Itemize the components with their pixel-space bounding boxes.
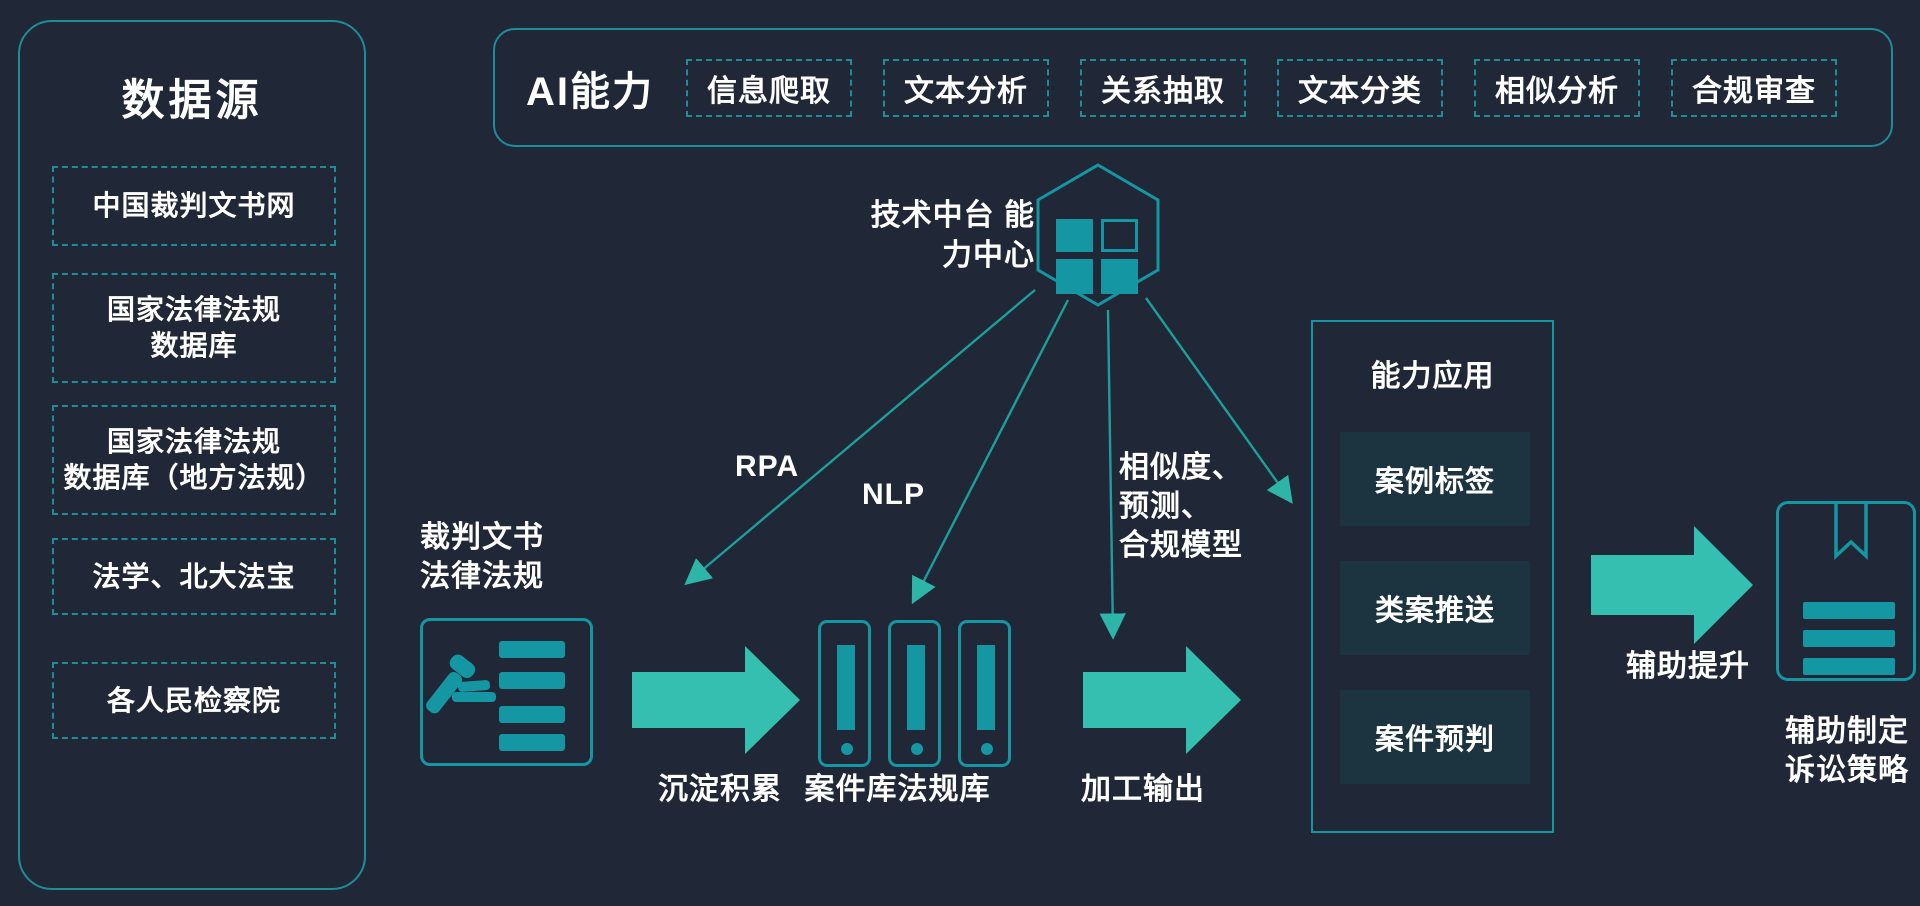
capability-panel-title: 能力应用	[1313, 351, 1552, 395]
server-dot	[841, 743, 853, 755]
server-bar	[977, 645, 995, 730]
hex-cell-top-left	[1056, 219, 1093, 252]
doc-line-4	[499, 734, 565, 751]
edge-label-rpa: RPA	[735, 447, 799, 486]
hex-cell-bottom-right	[1101, 259, 1138, 294]
edge-model	[1108, 310, 1113, 635]
ai-chip-text-classify[interactable]: 文本分类	[1277, 59, 1443, 117]
arrow-process-output	[1083, 646, 1241, 754]
capability-card-case-predict[interactable]: 案件预判	[1340, 690, 1530, 784]
server-dot	[911, 743, 923, 755]
diagram-canvas: 数据源 中国裁判文书网 国家法律法规 数据库 国家法律法规 数据库（地方法规） …	[0, 0, 1920, 906]
datasource-item-4-label: 法学、北大法宝	[92, 559, 295, 595]
gavel-document-icon[interactable]	[420, 618, 593, 766]
outcome-caption: 辅助制定 诉讼策略	[1738, 712, 1920, 790]
ai-chip-compliance-review[interactable]: 合规审查	[1671, 59, 1837, 117]
server-dot	[981, 743, 993, 755]
arrow-assist-upgrade	[1591, 526, 1753, 644]
datasource-item-5[interactable]: 各人民检察院	[52, 662, 336, 739]
datasource-panel: 数据源 中国裁判文书网 国家法律法规 数据库 国家法律法规 数据库（地方法规） …	[18, 20, 366, 890]
server-bar	[907, 645, 925, 730]
server-tower-2[interactable]	[888, 620, 941, 767]
datasource-item-3-label: 国家法律法规 数据库（地方法规）	[63, 424, 324, 496]
server-tower-1[interactable]	[818, 620, 871, 767]
ai-chip-relation-extract[interactable]: 关系抽取	[1080, 59, 1246, 117]
book-line-3	[1803, 658, 1895, 675]
bookmark-document-icon[interactable]	[1776, 501, 1916, 681]
hex-cell-top-right	[1101, 219, 1138, 252]
doc-line-1	[499, 641, 565, 658]
pipeline-source-caption: 裁判文书 法律法规	[420, 518, 595, 596]
hexagon-grid-icon[interactable]	[1038, 190, 1158, 323]
datasource-title: 数据源	[20, 66, 364, 128]
hex-cell-bottom-left	[1056, 259, 1093, 294]
capability-panel: 能力应用 案例标签 类案推送 案件预判	[1311, 320, 1554, 833]
tech-center-label: 技术中台 能力中心	[845, 196, 1035, 275]
book-line-1	[1803, 602, 1895, 619]
edge-label-nlp: NLP	[862, 475, 925, 514]
arrow-accumulate	[632, 646, 800, 754]
edge-nlp	[914, 300, 1068, 600]
edge-rpa	[688, 290, 1035, 582]
outcome-arrow-label: 辅助提升	[1591, 647, 1785, 686]
pipeline-store-caption: 案件库法规库	[790, 770, 1005, 809]
capability-card-case-push[interactable]: 类案推送	[1340, 561, 1530, 655]
server-bar	[837, 645, 855, 730]
ai-chip-similarity[interactable]: 相似分析	[1474, 59, 1640, 117]
capability-card-case-tag[interactable]: 案例标签	[1340, 432, 1530, 526]
datasource-item-5-label: 各人民检察院	[107, 683, 281, 719]
datasource-item-1[interactable]: 中国裁判文书网	[52, 166, 336, 246]
book-line-2	[1803, 630, 1895, 647]
datasource-item-1-label: 中国裁判文书网	[92, 188, 295, 224]
datasource-item-3[interactable]: 国家法律法规 数据库（地方法规）	[52, 405, 336, 515]
datasource-item-2-label: 国家法律法规 数据库	[107, 292, 281, 364]
doc-line-3	[499, 706, 565, 723]
datasource-item-4[interactable]: 法学、北大法宝	[52, 538, 336, 615]
ai-capability-bar: AI能力 信息爬取 文本分析 关系抽取 文本分类 相似分析 合规审查	[493, 28, 1893, 147]
pipeline-step2-label: 加工输出	[1063, 770, 1223, 809]
ai-capability-title: AI能力	[526, 59, 654, 117]
ai-chip-info-crawl[interactable]: 信息爬取	[686, 59, 852, 117]
server-tower-3[interactable]	[958, 620, 1011, 767]
edge-label-model: 相似度、 预测、 合规模型	[1119, 448, 1243, 565]
datasource-item-2[interactable]: 国家法律法规 数据库	[52, 273, 336, 383]
ai-chip-text-analysis[interactable]: 文本分析	[883, 59, 1049, 117]
doc-line-2	[499, 672, 565, 689]
